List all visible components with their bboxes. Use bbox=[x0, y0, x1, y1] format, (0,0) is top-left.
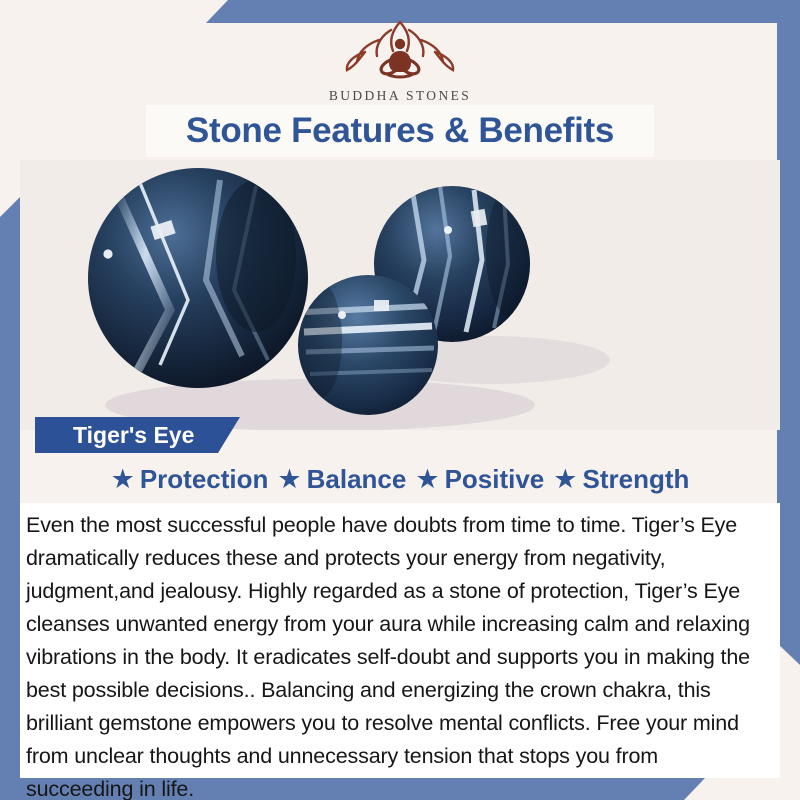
brand-name: BUDDHA STONES bbox=[0, 88, 800, 104]
title-banner: Stone Features & Benefits bbox=[146, 105, 654, 157]
product-photo bbox=[20, 160, 780, 430]
poster-canvas: BUDDHA STONES Stone Features & Benefits bbox=[0, 0, 800, 800]
brand-logo: BUDDHA STONES bbox=[0, 14, 800, 104]
benefit-label: Protection bbox=[140, 464, 269, 495]
benefits-row: ★ Protection ★ Balance ★ Positive ★ Stre… bbox=[0, 464, 800, 495]
benefit-item: ★ Protection bbox=[111, 464, 278, 495]
stone-name-tag: Tiger's Eye bbox=[35, 417, 240, 453]
star-icon: ★ bbox=[553, 466, 577, 493]
page-title: Stone Features & Benefits bbox=[186, 111, 614, 151]
description-panel: Even the most successful people have dou… bbox=[20, 503, 780, 778]
gemstone-spheres-image bbox=[20, 160, 780, 430]
benefit-label: Positive bbox=[445, 464, 545, 495]
star-icon: ★ bbox=[111, 466, 135, 493]
benefit-item: ★ Positive bbox=[415, 464, 553, 495]
benefit-label: Strength bbox=[583, 464, 690, 495]
lotus-meditation-icon bbox=[325, 14, 475, 86]
benefit-item: ★ Balance bbox=[277, 464, 415, 495]
star-icon: ★ bbox=[277, 466, 301, 493]
star-icon: ★ bbox=[415, 466, 439, 493]
stone-name-label: Tiger's Eye bbox=[35, 422, 228, 449]
description-text: Even the most successful people have dou… bbox=[26, 509, 762, 800]
benefit-label: Balance bbox=[307, 464, 407, 495]
benefit-item: ★ Strength bbox=[553, 464, 689, 495]
